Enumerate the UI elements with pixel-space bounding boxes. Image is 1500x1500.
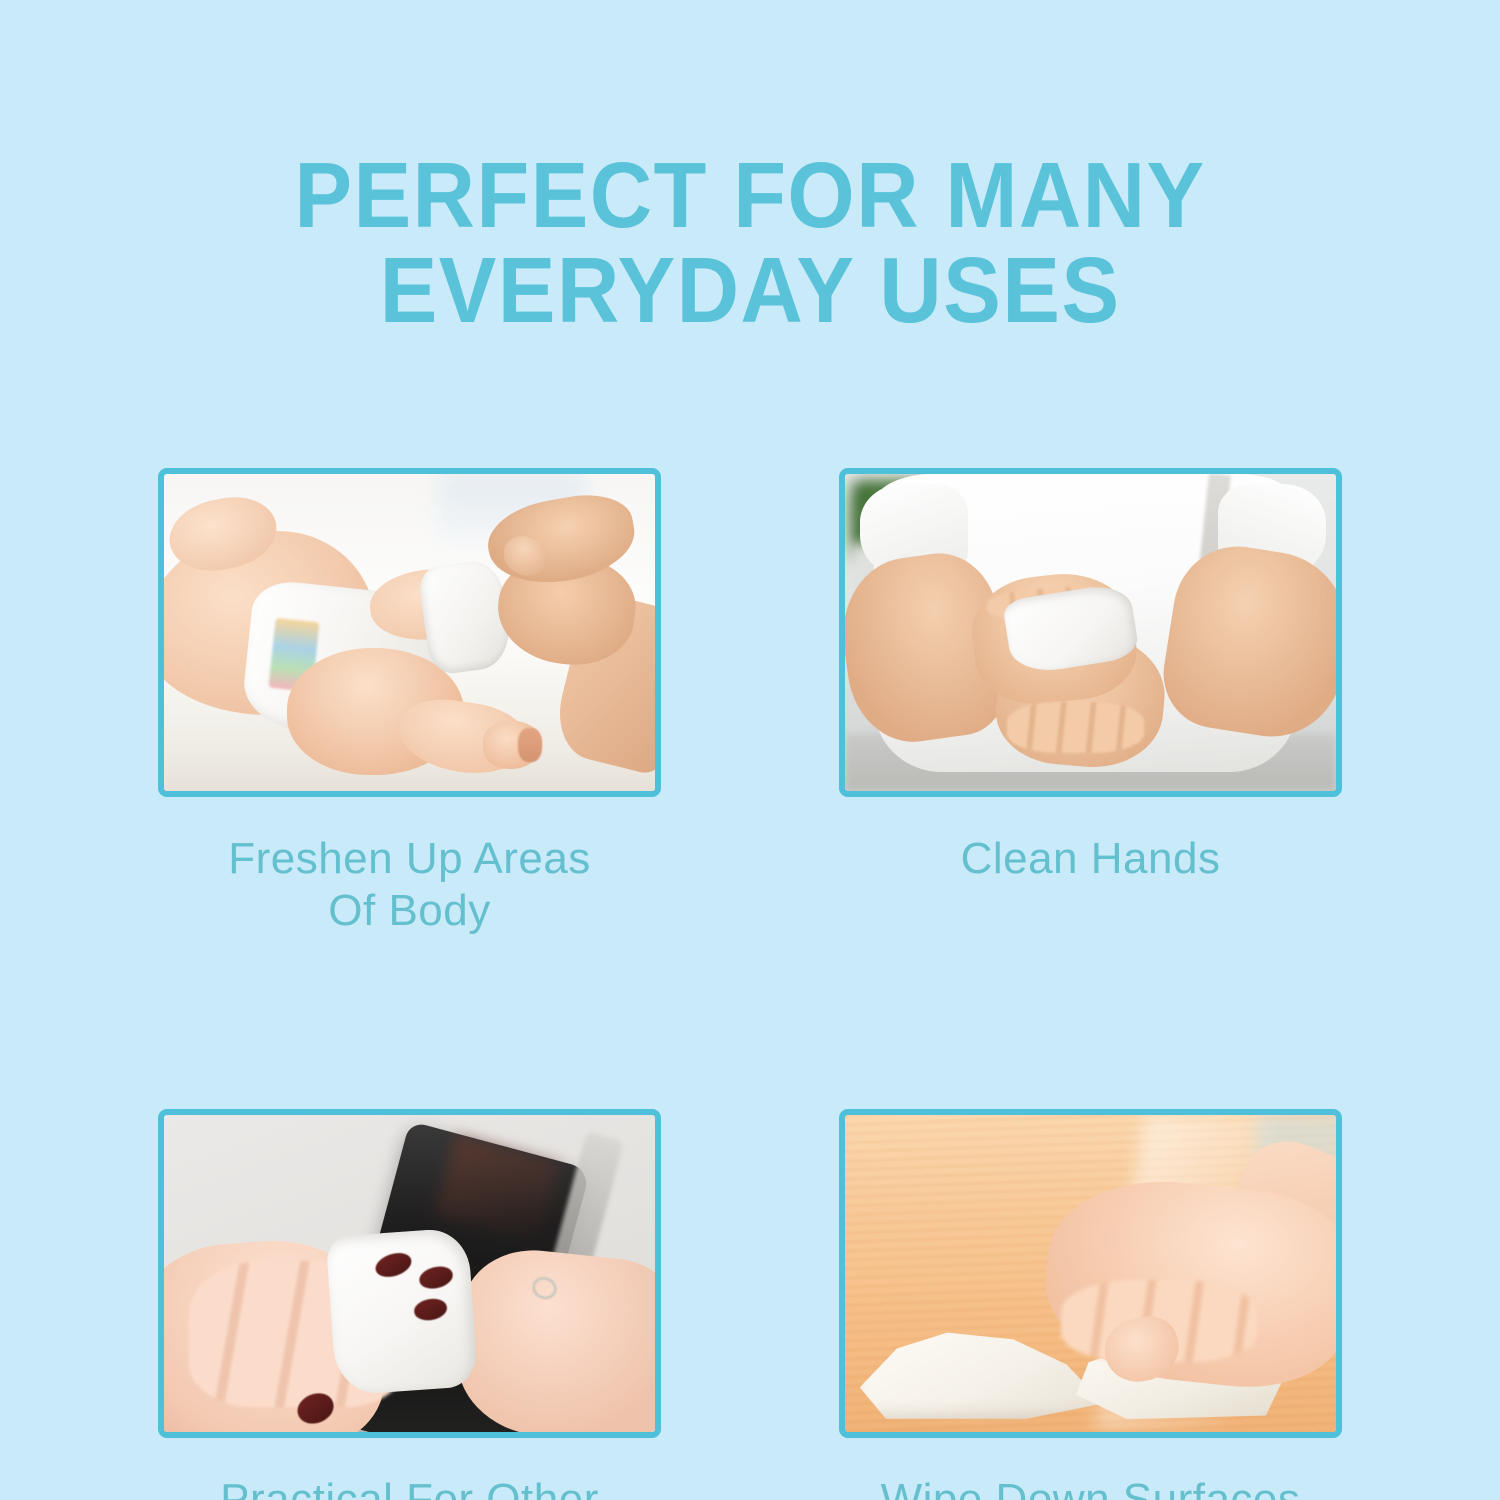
use-case-row-top: Freshen Up Areas Of Body bbox=[158, 468, 1342, 937]
photo-frame-baby-wipe bbox=[158, 468, 661, 797]
use-case-card-clean-hands: Clean Hands bbox=[839, 468, 1342, 937]
photo-person-wiping-hands bbox=[845, 474, 1336, 791]
caption-line-2: Of Body bbox=[158, 885, 661, 937]
page-title-line-1: PERFECT FOR MANY bbox=[53, 148, 1448, 243]
photo-baby-diaper-change bbox=[164, 474, 655, 791]
lower-fingers-shape bbox=[1007, 702, 1144, 753]
photo-wiping-wooden-surface bbox=[845, 1115, 1336, 1432]
photo-wiping-smartphone bbox=[164, 1115, 655, 1432]
use-case-card-freshen-up-areas-of-body: Freshen Up Areas Of Body bbox=[158, 468, 661, 937]
card-caption: Practical For Other Application bbox=[158, 1474, 661, 1500]
page-title-line-2: EVERYDAY USES bbox=[53, 243, 1448, 338]
use-case-card-wipe-down-surfaces: Wipe Down Surfaces bbox=[839, 1109, 1342, 1500]
use-case-grid: Freshen Up Areas Of Body bbox=[158, 468, 1342, 1500]
photo-frame-surface-wipe bbox=[839, 1109, 1342, 1438]
card-caption: Wipe Down Surfaces bbox=[839, 1474, 1342, 1500]
caption-line-1: Practical For Other bbox=[158, 1474, 661, 1500]
use-case-card-practical-for-other-application: Practical For Other Application bbox=[158, 1109, 661, 1500]
photo-frame-clean-hands bbox=[839, 468, 1342, 797]
infographic-page: PERFECT FOR MANY EVERYDAY USES bbox=[0, 0, 1500, 1500]
baby-toes-shape bbox=[518, 728, 543, 763]
card-caption: Freshen Up Areas Of Body bbox=[158, 833, 661, 937]
card-caption: Clean Hands bbox=[839, 833, 1342, 885]
caption-line-1: Freshen Up Areas bbox=[158, 833, 661, 885]
caption-line-1: Clean Hands bbox=[839, 833, 1342, 885]
caption-line-1: Wipe Down Surfaces bbox=[839, 1474, 1342, 1500]
use-case-row-bottom: Practical For Other Application bbox=[158, 1109, 1342, 1500]
photo-frame-phone-wipe bbox=[158, 1109, 661, 1438]
right-hand-shape bbox=[450, 1244, 655, 1432]
page-title: PERFECT FOR MANY EVERYDAY USES bbox=[53, 148, 1448, 338]
